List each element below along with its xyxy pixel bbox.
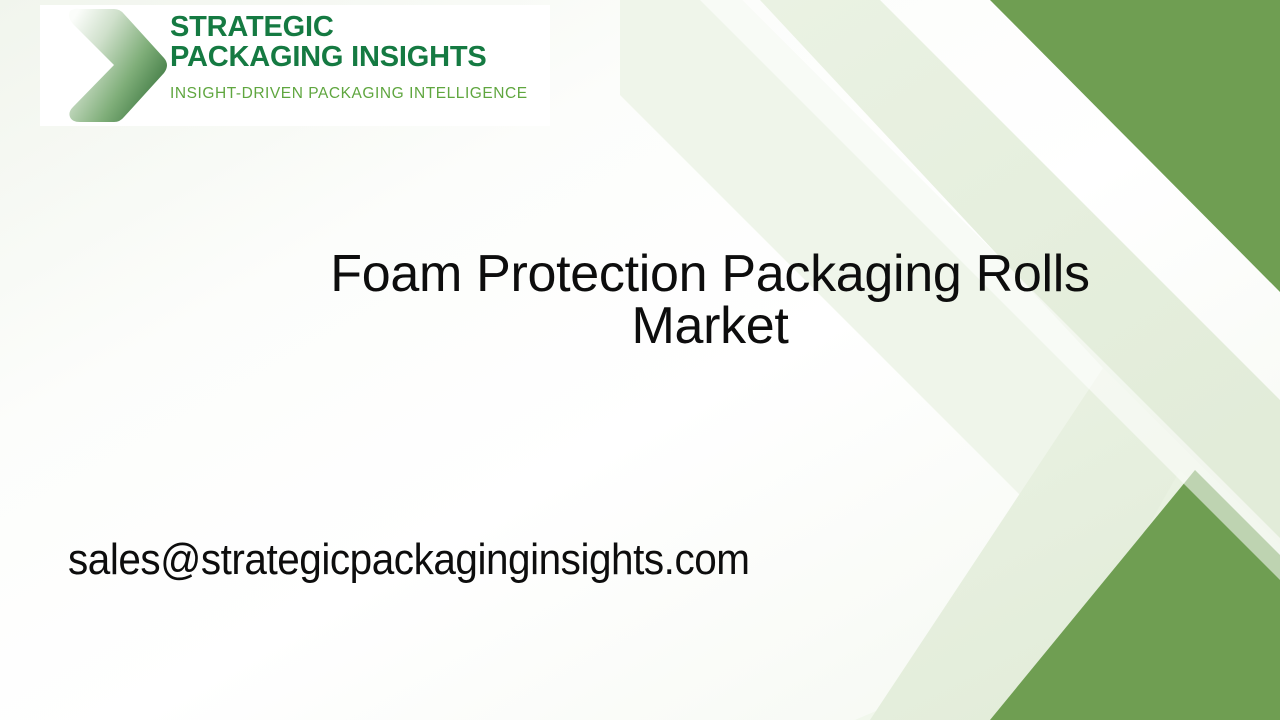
logo-line-packaging-insights: PACKAGING INSIGHTS — [170, 43, 548, 73]
chevron-band-inner-lower — [1040, 470, 1280, 720]
slide-canvas: STRATEGIC PACKAGING INSIGHTS INSIGHT-DRI… — [0, 0, 1280, 720]
chevron-band-outer — [620, 0, 1280, 720]
page-title-line-2: Market — [280, 300, 1140, 352]
brand-logo: STRATEGIC PACKAGING INSIGHTS INSIGHT-DRI… — [40, 5, 550, 126]
logo-line-strategic: STRATEGIC — [170, 13, 548, 43]
page-title-line-1: Foam Protection Packaging Rolls — [280, 248, 1140, 300]
green-region-bottom-right — [990, 470, 1280, 720]
contact-email[interactable]: sales@strategicpackaginginsights.com — [68, 535, 750, 585]
chevron-arrow-mark-icon — [52, 7, 172, 125]
chevron-band-mid-lower — [870, 368, 1280, 720]
logo-tagline: INSIGHT-DRIVEN PACKAGING INTELLIGENCE — [170, 85, 548, 103]
logo-wordmark: STRATEGIC PACKAGING INSIGHTS INSIGHT-DRI… — [170, 13, 548, 103]
page-title: Foam Protection Packaging Rolls Market — [280, 248, 1140, 352]
chevron-band-outer-lower — [855, 538, 1280, 720]
